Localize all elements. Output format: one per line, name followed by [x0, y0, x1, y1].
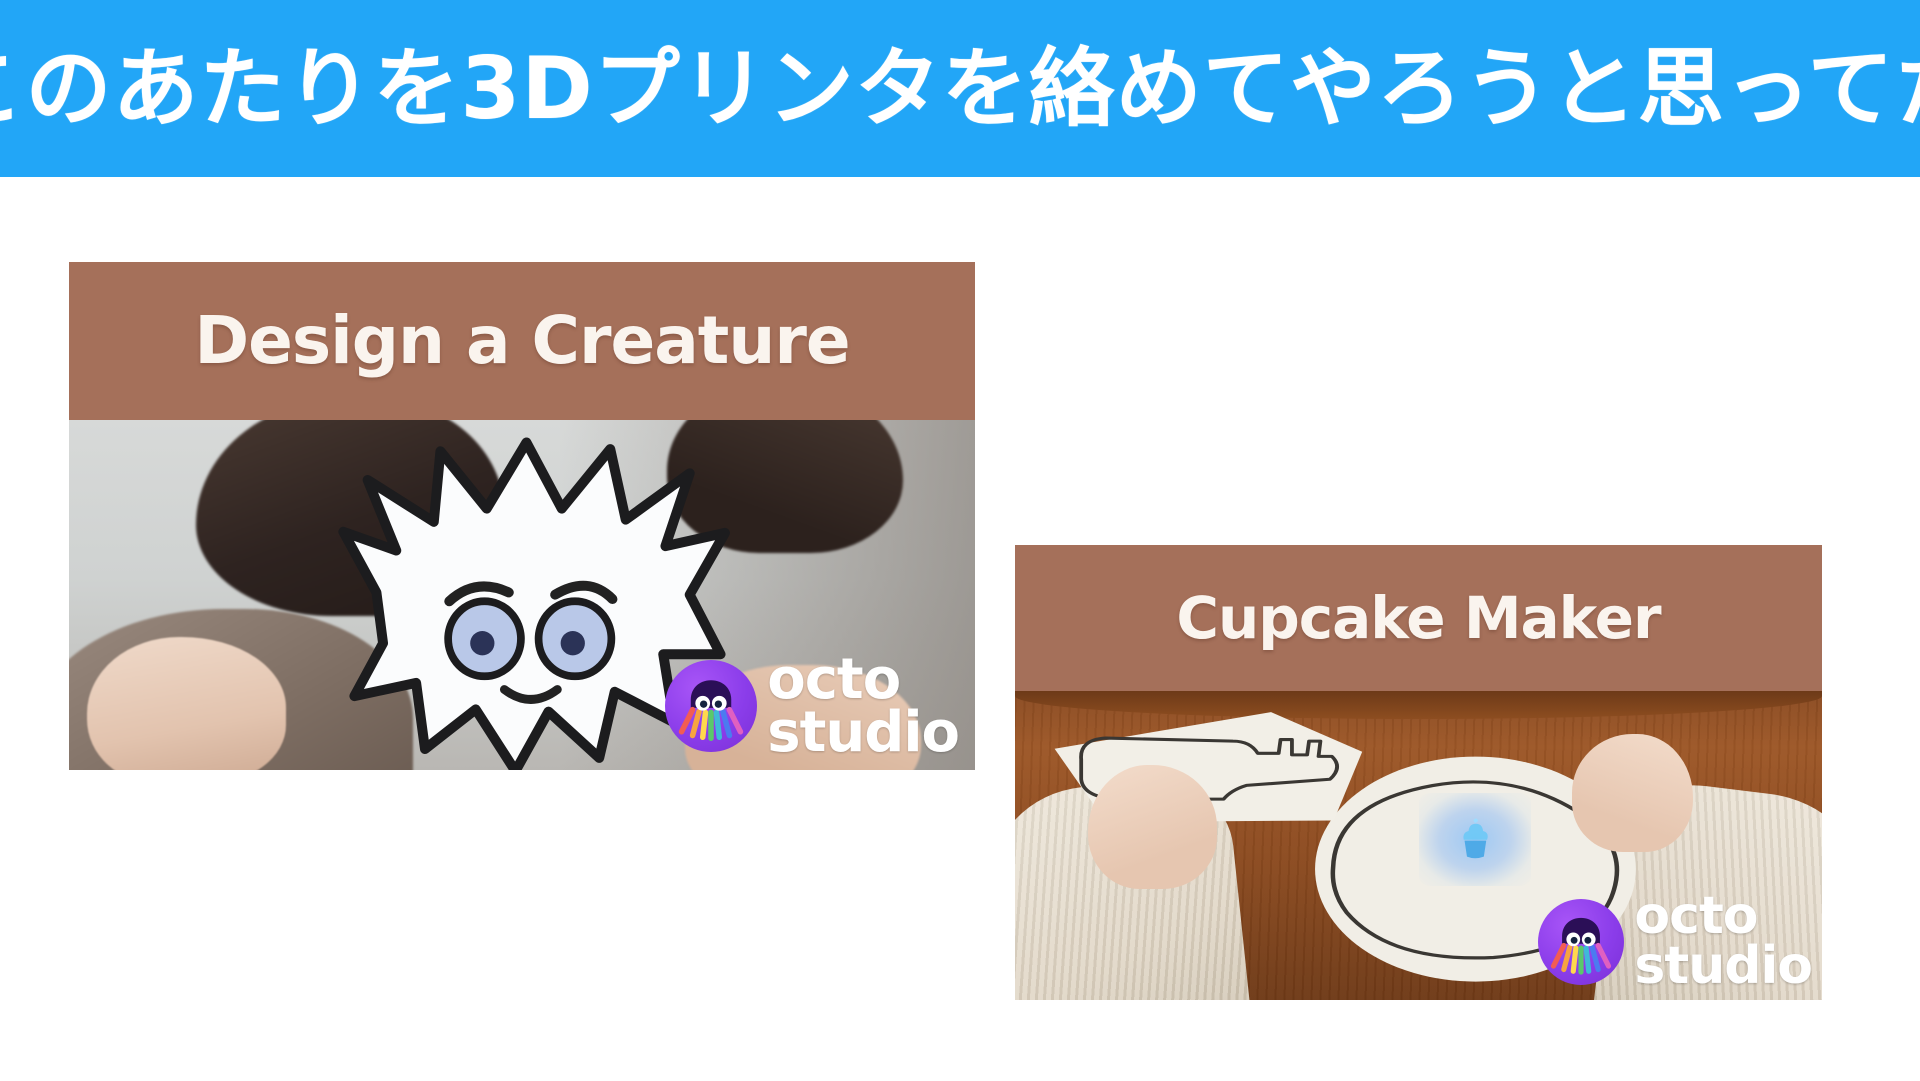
- octopus-mark-icon: [1538, 899, 1624, 985]
- octostudio-word-studio: studio: [767, 706, 959, 760]
- ar-cupcake-icon: [1442, 815, 1508, 863]
- video-card-cupcake-maker[interactable]: Cupcake Maker: [1015, 545, 1822, 1000]
- video-card-design-a-creature[interactable]: Design a Creature: [69, 262, 975, 770]
- card-title: Design a Creature: [194, 308, 849, 374]
- octostudio-word-octo: octo: [1634, 892, 1812, 942]
- octostudio-wordmark: octo studio: [1634, 892, 1812, 992]
- hand-left: [1088, 765, 1217, 889]
- hand-right: [1572, 734, 1693, 851]
- octostudio-word-studio: studio: [1634, 942, 1812, 992]
- octostudio-logo: octo studio: [665, 653, 959, 761]
- card-photo-area: octo studio: [69, 420, 975, 770]
- caption-text: このあたりを3Dプリンタを絡めてやろうと思ってた: [0, 46, 1920, 132]
- octopus-mark-icon: [665, 660, 757, 752]
- octostudio-word-octo: octo: [767, 653, 959, 707]
- ar-projection-overlay: [1419, 793, 1532, 886]
- octostudio-logo: octo studio: [1538, 892, 1812, 992]
- octostudio-wordmark: octo studio: [767, 653, 959, 761]
- card-title: Cupcake Maker: [1176, 589, 1660, 647]
- card-header-banner: Cupcake Maker: [1015, 545, 1822, 691]
- caption-banner: このあたりを3Dプリンタを絡めてやろうと思ってた: [0, 0, 1920, 177]
- card-photo-area: octo studio: [1015, 691, 1822, 1000]
- card-header-banner: Design a Creature: [69, 262, 975, 420]
